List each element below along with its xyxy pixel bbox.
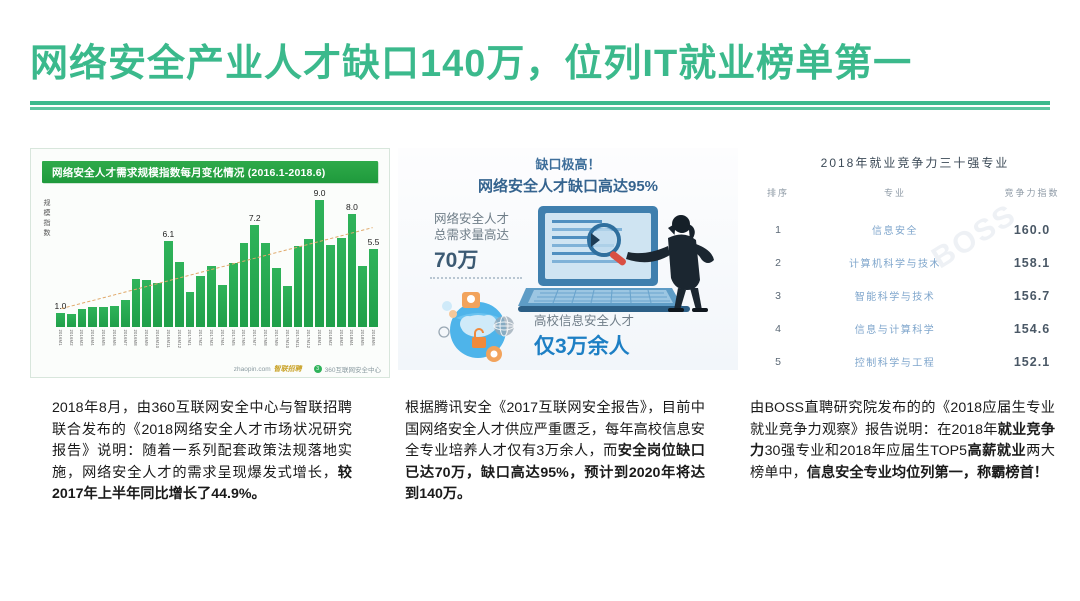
chart-plot-area: 规模指数 1.06.17.29.08.05.5 2016M12016M22016… — [40, 187, 380, 359]
chart-x-tick-label: 2017M10 — [285, 329, 290, 348]
paragraph-emphasis: 信息安全专业均位列第一，称霸榜首！ — [807, 465, 1048, 481]
chart-x-tick-label: 2018M2 — [328, 329, 333, 348]
demand-index-chart-card: 网络安全人才需求规模指数每月变化情况 (2016.1-2018.6) 规模指数 … — [30, 148, 390, 378]
column-header-major: 专业 — [806, 185, 984, 213]
chart-bar: 1.0 — [56, 191, 65, 327]
chart-bar: 8.0 — [348, 191, 357, 327]
chart-bar — [207, 191, 216, 327]
chart-bar-value-label: 7.2 — [249, 213, 261, 223]
chart-x-tick: 2018M6 — [369, 329, 378, 349]
left-column: 网络安全人才需求规模指数每月变化情况 (2016.1-2018.6) 规模指数 … — [30, 148, 360, 378]
cell-rank: 1 — [750, 213, 806, 246]
infographic-headline-line2: 网络安全人才缺口高达95% — [398, 175, 738, 196]
chart-x-tick: 2017M11 — [294, 329, 303, 349]
chart-bar: 7.2 — [250, 191, 259, 327]
chart-bar: 6.1 — [164, 191, 173, 327]
table-row[interactable]: 3智能科学与技术156.7 — [750, 279, 1080, 312]
chart-y-axis-label: 规模指数 — [41, 199, 51, 239]
chart-x-tick-label: 2017M2 — [198, 329, 203, 348]
chart-x-tick: 2016M10 — [153, 329, 162, 349]
chart-bar-rect — [369, 249, 378, 327]
cell-rank: 3 — [750, 279, 806, 312]
chart-bar-rect — [78, 309, 87, 327]
chart-bar-rect — [315, 200, 324, 328]
chart-bar — [142, 191, 151, 327]
chart-x-tick: 2016M2 — [67, 329, 76, 349]
chart-x-tick-label: 2017M5 — [231, 329, 236, 348]
chart-bar-rect — [250, 225, 259, 327]
chart-bar — [283, 191, 292, 327]
chart-bar — [294, 191, 303, 327]
talent-gap-infographic: 缺口极高！ 网络安全人才缺口高达95% — [398, 148, 738, 370]
chart-x-tick: 2016M12 — [175, 329, 184, 349]
brand-zhaopin-name: 智联招聘 — [274, 364, 302, 374]
chart-x-tick: 2017M5 — [229, 329, 238, 349]
chart-bar-rect — [110, 306, 119, 327]
chart-bar — [110, 191, 119, 327]
chart-bar — [175, 191, 184, 327]
chart-x-tick: 2016M1 — [56, 329, 65, 349]
chart-bar — [88, 191, 97, 327]
university-talent-label: 高校信息安全人才 — [534, 310, 634, 329]
chart-x-tick: 2018M3 — [337, 329, 346, 349]
column-header-rank: 排序 — [750, 185, 806, 213]
chart-x-tick-label: 2018M4 — [350, 329, 355, 348]
chart-x-tick-label: 2016M3 — [80, 329, 85, 348]
chart-bar-rect — [304, 239, 313, 327]
chart-bar-rect — [229, 263, 238, 327]
paragraph-emphasis: 高薪就业 — [967, 443, 1026, 459]
chart-bar-rect — [186, 292, 195, 327]
chart-bar — [153, 191, 162, 327]
chart-bar — [229, 191, 238, 327]
chart-x-tick: 2016M6 — [110, 329, 119, 349]
chart-x-tick: 2017M3 — [207, 329, 216, 349]
chart-x-tick: 2016M5 — [99, 329, 108, 349]
chart-bar-value-label: 8.0 — [346, 202, 358, 212]
chart-title-bar: 网络安全人才需求规模指数每月变化情况 (2016.1-2018.6) — [42, 161, 378, 183]
chart-x-tick: 2017M12 — [304, 329, 313, 349]
chart-x-tick-label: 2016M11 — [166, 329, 171, 348]
title-divider — [30, 101, 1050, 110]
chart-x-tick-label: 2016M9 — [144, 329, 149, 348]
chart-bar-value-label: 5.5 — [368, 237, 380, 247]
chart-bars: 1.06.17.29.08.05.5 — [56, 191, 378, 327]
chart-bar — [261, 191, 270, 327]
chart-x-tick-label: 2017M1 — [188, 329, 193, 348]
infographic-headline: 缺口极高！ 网络安全人才缺口高达95% — [398, 148, 738, 196]
chart-title: 网络安全人才需求规模指数每月变化情况 (2016.1-2018.6) — [52, 165, 325, 180]
table-header-row: 排序 专业 竞争力指数 — [750, 185, 1080, 213]
total-demand-label-line2: 总需求量高达 — [434, 228, 554, 244]
chart-bar-rect — [121, 300, 130, 327]
chart-bar-rect — [99, 307, 108, 327]
chart-bar-rect — [218, 285, 227, 328]
total-demand-stat: 网络安全人才 总需求量高达 70万 — [434, 212, 554, 274]
chart-bar — [326, 191, 335, 327]
cell-major: 智能科学与技术 — [806, 279, 984, 312]
chart-x-tick-label: 2016M4 — [90, 329, 95, 348]
chart-bar — [337, 191, 346, 327]
chart-bar-rect — [358, 266, 367, 327]
chart-x-tick-label: 2017M12 — [306, 329, 311, 348]
chart-x-tick-label: 2017M9 — [274, 329, 279, 348]
chart-bar: 9.0 — [315, 191, 324, 327]
chart-x-tick-label: 2017M7 — [252, 329, 257, 348]
chart-bar-rect — [56, 313, 65, 327]
brand-360: 3 360互联网安全中心 — [314, 364, 381, 374]
chart-x-tick: 2018M1 — [315, 329, 324, 349]
chart-bar — [304, 191, 313, 327]
chart-x-tick: 2016M11 — [164, 329, 173, 349]
chart-x-tick: 2018M2 — [326, 329, 335, 349]
chart-x-tick: 2017M6 — [240, 329, 249, 349]
chart-bar-rect — [142, 280, 151, 327]
cell-score: 152.1 — [984, 345, 1080, 378]
chart-bar-rect — [272, 268, 281, 328]
cell-score: 154.6 — [984, 312, 1080, 345]
middle-column: 缺口极高！ 网络安全人才缺口高达95% — [398, 148, 728, 370]
chart-x-tick: 2016M3 — [78, 329, 87, 349]
chart-x-tick-label: 2016M1 — [58, 329, 63, 348]
cell-score: 158.1 — [984, 246, 1080, 279]
chart-x-tick-label: 2016M10 — [155, 329, 160, 348]
brand-360-name: 360互联网安全中心 — [325, 364, 381, 374]
chart-bar — [78, 191, 87, 327]
chart-x-tick: 2017M1 — [186, 329, 195, 349]
total-demand-value: 70万 — [434, 244, 554, 274]
university-talent-stat: 高校信息安全人才 仅3万余人 — [534, 310, 634, 360]
brand-zhaopin-url: zhaopin.com — [234, 366, 271, 373]
chart-bar — [218, 191, 227, 327]
ranking-table: 排序 专业 竞争力指数 1信息安全160.02计算机科学与技术158.13智能科… — [750, 185, 1080, 378]
brand-zhaopin: zhaopin.com 智联招聘 — [234, 364, 302, 374]
chart-bar-rect — [337, 238, 346, 327]
chart-bar-rect — [326, 245, 335, 327]
chart-x-tick-label: 2016M5 — [101, 329, 106, 348]
chart-bar-rect — [294, 246, 303, 327]
cell-rank: 5 — [750, 345, 806, 378]
chart-x-tick: 2017M2 — [196, 329, 205, 349]
globe-security-illustration — [434, 288, 520, 366]
chart-x-tick: 2017M10 — [283, 329, 292, 349]
table-row[interactable]: 2计算机科学与技术158.1 — [750, 246, 1080, 279]
chart-bar — [240, 191, 249, 327]
chart-bar-rect — [164, 241, 173, 327]
chart-x-tick-label: 2016M2 — [69, 329, 74, 348]
chart-x-tick-label: 2017M8 — [263, 329, 268, 348]
table-row[interactable]: 1信息安全160.0 — [750, 213, 1080, 246]
chart-x-tick-label: 2017M3 — [209, 329, 214, 348]
cell-rank: 4 — [750, 312, 806, 345]
cell-rank: 2 — [750, 246, 806, 279]
paragraph-text: 2018年8月，由360互联网安全中心与智联招聘联合发布的《2018网络安全人才… — [52, 400, 352, 481]
chart-bar-rect — [67, 314, 76, 327]
chart-bar-rect — [348, 214, 357, 327]
chart-bar-rect — [88, 307, 97, 327]
chart-x-tick: 2017M4 — [218, 329, 227, 349]
university-talent-value: 仅3万余人 — [534, 330, 634, 360]
chart-x-tick: 2017M7 — [250, 329, 259, 349]
chart-bar-rect — [132, 279, 141, 327]
chart-x-tick-label: 2018M1 — [317, 329, 322, 348]
chart-x-tick-label: 2018M6 — [371, 329, 376, 348]
chart-bar-value-label: 9.0 — [314, 188, 326, 198]
chart-x-tick: 2016M4 — [88, 329, 97, 349]
chart-bar-rect — [153, 283, 162, 327]
chart-bar-rect — [175, 262, 184, 327]
chart-bar — [186, 191, 195, 327]
chart-bar-value-label: 6.1 — [162, 229, 174, 239]
chart-x-axis-ticks: 2016M12016M22016M32016M42016M52016M62016… — [56, 329, 378, 349]
chart-x-tick-label: 2017M6 — [242, 329, 247, 348]
table-row[interactable]: 4信息与计算科学154.6 — [750, 312, 1080, 345]
chart-bar — [272, 191, 281, 327]
chart-bar-rect — [240, 243, 249, 327]
chart-bar-rect — [196, 276, 205, 327]
infographic-headline-line1: 缺口极高！ — [398, 154, 738, 173]
cell-score: 156.7 — [984, 279, 1080, 312]
chart-x-tick-label: 2016M6 — [112, 329, 117, 348]
divider-line-thin — [30, 107, 1050, 110]
chart-bar — [196, 191, 205, 327]
table-row[interactable]: 5控制科学与工程152.1 — [750, 345, 1080, 378]
chart-bar-rect — [283, 286, 292, 327]
chart-x-tick: 2017M8 — [261, 329, 270, 349]
chart-x-tick-label: 2016M7 — [123, 329, 128, 348]
paragraph-boss-report: 由BOSS直聘研究院发布的的《2018应届生专业就业竞争力观察》报告说明：在20… — [750, 398, 1055, 484]
chart-source-footer: zhaopin.com 智联招聘 3 360互联网安全中心 — [31, 364, 381, 374]
chart-x-tick: 2016M8 — [132, 329, 141, 349]
chart-x-tick-label: 2017M4 — [220, 329, 225, 348]
paragraph-360-report: 2018年8月，由360互联网安全中心与智联招聘联合发布的《2018网络安全人才… — [52, 398, 352, 506]
chart-x-tick-label: 2018M5 — [360, 329, 365, 348]
chart-x-tick-label: 2018M3 — [339, 329, 344, 348]
chart-bar-rect — [261, 243, 270, 327]
paragraph-text: 30强专业和2018年应届生TOP5 — [765, 443, 967, 459]
chart-bar — [67, 191, 76, 327]
chart-x-tick-label: 2016M12 — [177, 329, 182, 348]
page-title: 网络安全产业人才缺口140万，位列IT就业榜单第一 — [30, 32, 912, 87]
chart-bar — [132, 191, 141, 327]
chart-x-tick: 2018M5 — [358, 329, 367, 349]
total-demand-label-line1: 网络安全人才 — [434, 212, 554, 228]
right-column: BOSS 2018年就业竞争力三十强专业 排序 专业 竞争力指数 1信息安全16… — [750, 148, 1080, 370]
chart-bar — [99, 191, 108, 327]
chart-x-tick: 2017M9 — [272, 329, 281, 349]
ranking-table-title: 2018年就业竞争力三十强专业 — [750, 148, 1080, 171]
chart-x-tick: 2016M9 — [142, 329, 151, 349]
chart-bar — [121, 191, 130, 327]
cell-major: 控制科学与工程 — [806, 345, 984, 378]
cell-major: 信息与计算科学 — [806, 312, 984, 345]
chart-x-tick: 2016M7 — [121, 329, 130, 349]
infographic-dotted-divider — [430, 277, 522, 279]
chart-bar-rect — [207, 266, 216, 327]
employment-competitiveness-table-card: BOSS 2018年就业竞争力三十强专业 排序 专业 竞争力指数 1信息安全16… — [750, 148, 1080, 370]
chart-bar: 5.5 — [369, 191, 378, 327]
shield-icon: 3 — [314, 365, 322, 373]
chart-x-tick: 2018M4 — [348, 329, 357, 349]
paragraph-tencent-report: 根据腾讯安全《2017互联网安全报告》，目前中国网络安全人才供应严重匮乏，每年高… — [405, 398, 705, 506]
chart-x-tick-label: 2016M8 — [134, 329, 139, 348]
chart-bar-value-label: 1.0 — [54, 301, 66, 311]
chart-bar — [358, 191, 367, 327]
chart-x-tick-label: 2017M11 — [296, 329, 301, 348]
